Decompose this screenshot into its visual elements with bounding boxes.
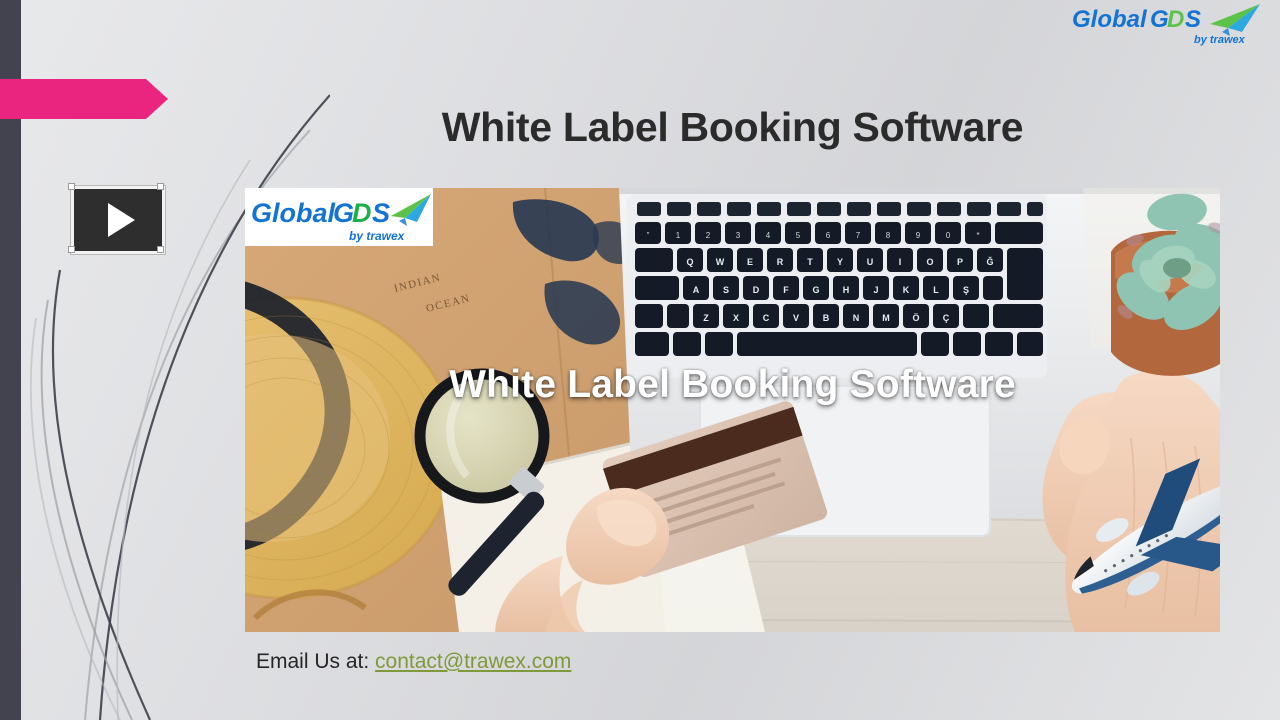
svg-text:Global: Global [1072,6,1148,33]
svg-text:Ö: Ö [912,313,919,323]
svg-text:4: 4 [766,231,771,240]
succulent-plant [1083,188,1220,376]
svg-text:P: P [957,257,963,267]
svg-text:Y: Y [837,257,843,267]
svg-text:B: B [823,313,830,323]
svg-text:G: G [1150,6,1169,33]
svg-text:by trawex: by trawex [1194,34,1246,46]
svg-text:T: T [807,257,813,267]
svg-text:J: J [873,285,878,295]
svg-text:K: K [903,285,910,295]
svg-text:6: 6 [826,231,831,240]
svg-text:S: S [1185,6,1201,33]
svg-text:X: X [733,313,739,323]
svg-text:Z: Z [703,313,709,323]
svg-text:Ğ: Ğ [986,256,993,267]
svg-text:Ş: Ş [963,285,969,295]
svg-text:F: F [783,285,789,295]
svg-text:0: 0 [946,231,951,240]
svg-text:8: 8 [886,231,891,240]
pink-arrow-banner [0,79,168,119]
photo-global-gds-logo: Global G D S by trawex [245,188,433,246]
hero-image[interactable]: INDIAN OCEAN [245,188,1220,632]
contact-line: Email Us at: contact@trawex.com [256,650,571,674]
svg-text:I: I [899,257,902,267]
svg-text:D: D [352,198,372,228]
selection-handle-bottom-right[interactable] [157,246,164,253]
svg-text:R: R [777,257,784,267]
presentation-slide: Global G D S by trawex White Label Booki… [0,0,1280,720]
video-play-button[interactable] [71,186,165,254]
svg-text:D: D [753,285,760,295]
svg-text:V: V [793,313,799,323]
svg-text:L: L [933,285,939,295]
svg-text:3: 3 [736,231,741,240]
svg-text:S: S [372,198,390,228]
svg-text:M: M [882,313,890,323]
svg-text:E: E [747,257,753,267]
contact-label: Email Us at: [256,650,369,673]
svg-text:*: * [976,231,979,240]
svg-text:C: C [763,313,770,323]
svg-text:2: 2 [706,231,711,240]
svg-text:D: D [1167,6,1184,33]
photo-brand-logo: Global G D S by trawex [245,188,433,246]
contact-email-link[interactable]: contact@trawex.com [375,650,571,673]
svg-text:9: 9 [916,231,921,240]
global-gds-logo: Global G D S by trawex [1070,2,1266,48]
svg-text:Q: Q [686,257,693,267]
svg-text:7: 7 [856,231,861,240]
svg-text:1: 1 [676,231,681,240]
svg-text:O: O [926,257,933,267]
page-title: White Label Booking Software [245,104,1220,151]
selection-handle-top-right[interactable] [157,183,164,190]
svg-text:G: G [333,198,354,228]
svg-text:5: 5 [796,231,801,240]
svg-text:N: N [853,313,860,323]
paper-plane-icon [1210,4,1260,36]
svg-text:Global: Global [251,198,336,228]
svg-text:": " [647,231,650,240]
hero-image-artwork: INDIAN OCEAN [245,188,1220,632]
svg-text:by trawex: by trawex [349,229,406,243]
svg-text:Ç: Ç [943,313,950,323]
svg-text:H: H [843,285,850,295]
play-triangle-icon [108,203,135,237]
selection-handle-bottom-left[interactable] [68,246,75,253]
svg-text:G: G [812,285,819,295]
selection-handle-top-left[interactable] [68,183,75,190]
svg-text:W: W [716,257,725,267]
svg-text:U: U [867,257,874,267]
svg-text:A: A [693,285,700,295]
svg-text:S: S [723,285,729,295]
